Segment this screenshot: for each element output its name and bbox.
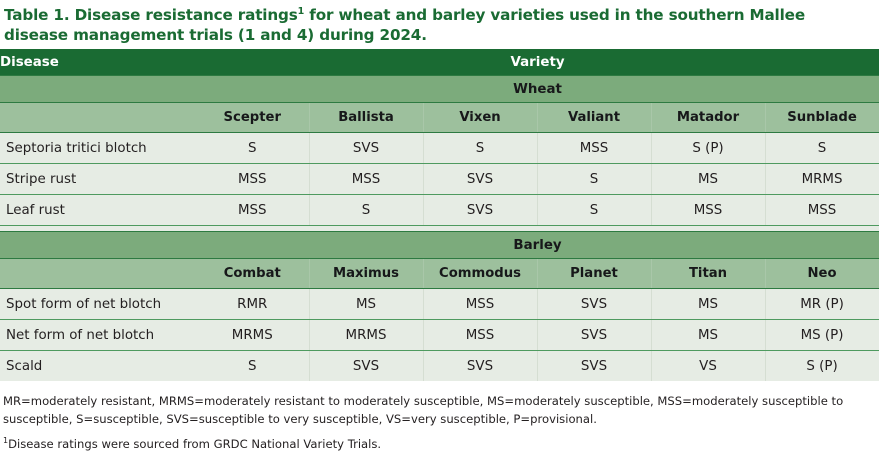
rating-cell: S (P): [651, 133, 765, 164]
rating-cell: SVS: [537, 351, 651, 382]
rating-cell: S: [309, 195, 423, 226]
crop-band-wheat-label: Wheat: [196, 76, 879, 103]
table-row: Net form of net blotch MRMS MRMS MSS SVS…: [0, 320, 879, 351]
crop-band-wheat-spacer: [0, 76, 196, 103]
rating-cell: SVS: [423, 164, 537, 195]
rating-cell: MSS: [196, 164, 309, 195]
rating-cell: S (P): [765, 351, 879, 382]
variety-header-wheat-4: Valiant: [537, 103, 651, 133]
rating-cell: SVS: [423, 195, 537, 226]
variety-header-barley-4: Planet: [537, 259, 651, 289]
crop-band-barley-label: Barley: [196, 232, 879, 259]
rating-cell: MS: [651, 320, 765, 351]
rating-cell: MS: [651, 164, 765, 195]
disease-resistance-table-figure: Table 1. Disease resistance ratings1 for…: [0, 0, 879, 474]
crop-band-wheat: Wheat: [0, 76, 879, 103]
rating-cell: SVS: [537, 320, 651, 351]
rating-cell: VS: [651, 351, 765, 382]
table-row: Spot form of net blotch RMR MS MSS SVS M…: [0, 289, 879, 320]
footnote-abbreviations: MR=moderately resistant, MRMS=moderately…: [3, 393, 873, 428]
row-disease-label: Stripe rust: [0, 164, 196, 195]
rating-cell: S: [537, 195, 651, 226]
rating-cell: S: [537, 164, 651, 195]
row-disease-label: Septoria tritici blotch: [0, 133, 196, 164]
rating-cell: MSS: [196, 195, 309, 226]
rating-cell: MSS: [423, 320, 537, 351]
table-caption: Table 1. Disease resistance ratings1 for…: [0, 0, 879, 49]
table-row: Leaf rust MSS S SVS S MSS MSS: [0, 195, 879, 226]
table-row: Scald S SVS SVS SVS VS S (P): [0, 351, 879, 382]
rating-cell: MRMS: [309, 320, 423, 351]
rating-cell: MSS: [423, 289, 537, 320]
rating-cell: MRMS: [196, 320, 309, 351]
disease-ratings-table: Disease Variety Wheat Scepter Ballista V…: [0, 49, 879, 381]
variety-header-barley-3: Commodus: [423, 259, 537, 289]
rating-cell: SVS: [309, 351, 423, 382]
rating-cell: MRMS: [765, 164, 879, 195]
variety-header-barley-1: Combat: [196, 259, 309, 289]
rating-cell: S: [196, 351, 309, 382]
rating-cell: MS: [309, 289, 423, 320]
rating-cell: S: [196, 133, 309, 164]
rating-cell: MSS: [651, 195, 765, 226]
rating-cell: MS: [651, 289, 765, 320]
variety-header-barley-blank: [0, 259, 196, 289]
rating-cell: RMR: [196, 289, 309, 320]
variety-header-wheat-2: Ballista: [309, 103, 423, 133]
rating-cell: S: [423, 133, 537, 164]
row-disease-label: Scald: [0, 351, 196, 382]
variety-header-wheat-3: Vixen: [423, 103, 537, 133]
rating-cell: MSS: [309, 164, 423, 195]
table-header-row: Disease Variety: [0, 49, 879, 76]
rating-cell: MR (P): [765, 289, 879, 320]
rating-cell: MS (P): [765, 320, 879, 351]
variety-header-barley-6: Neo: [765, 259, 879, 289]
rating-cell: MSS: [537, 133, 651, 164]
table-row: Stripe rust MSS MSS SVS S MS MRMS: [0, 164, 879, 195]
header-variety: Variety: [196, 49, 879, 76]
variety-header-wheat-blank: [0, 103, 196, 133]
table-footnotes: MR=moderately resistant, MRMS=moderately…: [0, 381, 879, 453]
row-disease-label: Spot form of net blotch: [0, 289, 196, 320]
footnote-source-text: Disease ratings were sourced from GRDC N…: [8, 437, 381, 451]
crop-band-barley: Barley: [0, 232, 879, 259]
variety-header-barley-5: Titan: [651, 259, 765, 289]
rating-cell: SVS: [537, 289, 651, 320]
crop-band-barley-spacer: [0, 232, 196, 259]
rating-cell: SVS: [423, 351, 537, 382]
variety-header-wheat-1: Scepter: [196, 103, 309, 133]
variety-header-row-wheat: Scepter Ballista Vixen Valiant Matador S…: [0, 103, 879, 133]
rating-cell: S: [765, 133, 879, 164]
caption-text-before: Table 1. Disease resistance ratings: [4, 6, 298, 24]
row-disease-label: Net form of net blotch: [0, 320, 196, 351]
footnote-source: 1Disease ratings were sourced from GRDC …: [3, 436, 873, 453]
variety-header-row-barley: Combat Maximus Commodus Planet Titan Neo: [0, 259, 879, 289]
rating-cell: SVS: [309, 133, 423, 164]
header-disease: Disease: [0, 49, 196, 76]
variety-header-wheat-5: Matador: [651, 103, 765, 133]
table-row: Septoria tritici blotch S SVS S MSS S (P…: [0, 133, 879, 164]
row-disease-label: Leaf rust: [0, 195, 196, 226]
variety-header-barley-2: Maximus: [309, 259, 423, 289]
variety-header-wheat-6: Sunblade: [765, 103, 879, 133]
rating-cell: MSS: [765, 195, 879, 226]
